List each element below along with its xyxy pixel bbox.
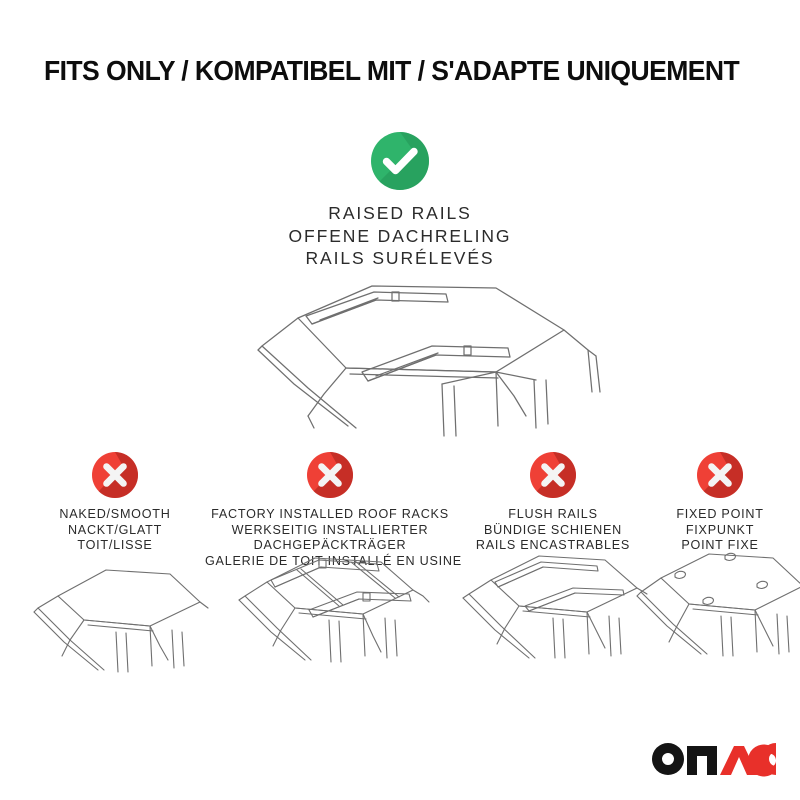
reject-label-de-1: WERKSEITIG INSTALLIERTER [205, 523, 455, 539]
page-title: FITS ONLY / KOMPATIBEL MIT / S'ADAPTE UN… [44, 54, 739, 88]
reject-item-factory-roof-racks: FACTORY INSTALLED ROOF RACKS WERKSEITIG … [205, 452, 455, 569]
compatible-labels: RAISED RAILS OFFENE DACHRELING RAILS SUR… [0, 202, 800, 270]
infographic-page: FITS ONLY / KOMPATIBEL MIT / S'ADAPTE UN… [0, 0, 800, 800]
reject-label-de: BÜNDIGE SCHIENEN [452, 523, 654, 539]
x-circle-icon [530, 452, 576, 498]
compatible-label-de: OFFENE DACHRELING [0, 225, 800, 248]
reject-label-de: FIXPUNKT [640, 523, 800, 539]
reject-item-naked-smooth: NAKED/SMOOTH NACKT/GLATT TOIT/LISSE [17, 452, 213, 554]
compatible-section: RAISED RAILS OFFENE DACHRELING RAILS SUR… [0, 132, 800, 270]
reject-labels: NAKED/SMOOTH NACKT/GLATT TOIT/LISSE [17, 507, 213, 554]
reject-label-fr: TOIT/LISSE [17, 538, 213, 554]
omac-logo: OMAC [650, 742, 776, 776]
x-circle-icon [92, 452, 138, 498]
reject-label-en: FACTORY INSTALLED ROOF RACKS [205, 507, 455, 523]
reject-label-de: NACKT/GLATT [17, 523, 213, 539]
x-circle-icon [697, 452, 743, 498]
compatible-label-en: RAISED RAILS [0, 202, 800, 225]
reject-label-en: FIXED POINT [640, 507, 800, 523]
check-circle-icon [371, 132, 429, 190]
compatible-label-fr: RAILS SURÉLEVÉS [0, 247, 800, 270]
car-roof-flush-rails-illustration [455, 540, 651, 687]
car-roof-factory-cross-bars-illustration [223, 548, 437, 701]
car-roof-raised-rails-illustration [196, 276, 616, 456]
reject-item-flush-rails: FLUSH RAILS BÜNDIGE SCHIENEN RAILS ENCAS… [452, 452, 654, 554]
car-roof-fixed-point-illustration [631, 540, 800, 687]
x-circle-icon [307, 452, 353, 498]
reject-item-fixed-point: FIXED POINT FIXPUNKT POINT FIXE [640, 452, 800, 554]
reject-label-en: NAKED/SMOOTH [17, 507, 213, 523]
reject-label-en: FLUSH RAILS [452, 507, 654, 523]
car-roof-naked-illustration [20, 556, 210, 701]
